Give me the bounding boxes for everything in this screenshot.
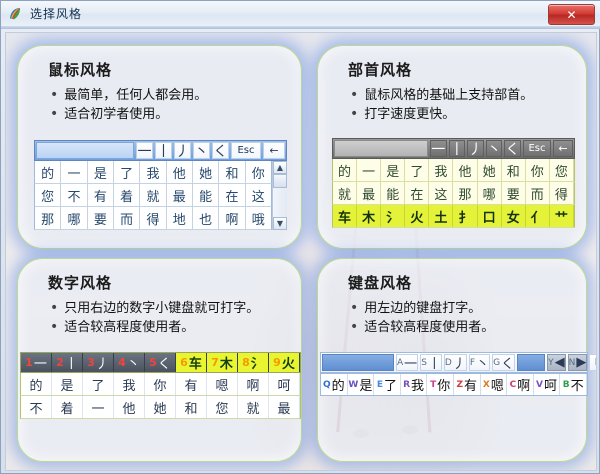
next-page-key[interactable]: N ▶ xyxy=(568,354,588,371)
candidate-cell[interactable]: 就 xyxy=(333,182,357,204)
ime-preview-keyboard: A 一 S 丨 D 丿 F 丶 xyxy=(320,352,588,396)
radical-cell[interactable]: 艹 xyxy=(550,205,574,227)
radical-row: 车 木 氵 火 土 扌 口 女 亻 艹 xyxy=(332,205,575,228)
candidate-row: Q 的 W 是 E 了 R 我 xyxy=(320,373,588,396)
candidate-cell[interactable]: 一 xyxy=(357,159,381,181)
candidate-cell[interactable]: 我 xyxy=(140,161,166,183)
numpad-digit: 8 xyxy=(242,356,250,369)
prev-arrow-icon: ◀ xyxy=(555,355,565,370)
candidate-glyph: 你 xyxy=(437,375,450,394)
candidate-cell[interactable]: 要 xyxy=(88,207,114,229)
esc-key[interactable]: Esc xyxy=(523,140,551,157)
key-glyph: く xyxy=(501,353,514,372)
candidate-glyph: 我 xyxy=(411,375,424,394)
next-arrow-icon: ▶ xyxy=(576,355,586,370)
numpad-digit: 5 xyxy=(149,356,157,369)
candidate-cell[interactable]: 啊 xyxy=(238,373,269,395)
numpad-key[interactable]: 4 丶 xyxy=(114,353,145,372)
panel-bullets: 鼠标风格的基础上支持部首。 打字速度更快。 xyxy=(350,86,533,124)
candidate-glyph: 不 xyxy=(571,375,584,394)
stroke-key[interactable]: 一 xyxy=(430,140,447,157)
candidate-cell[interactable]: 啊 xyxy=(219,207,245,229)
numpad-key-radical[interactable]: 9 火 xyxy=(269,353,300,372)
key-glyph: 丨 xyxy=(428,353,441,372)
candidate-cell[interactable]: 得 xyxy=(550,182,574,204)
numpad-key[interactable]: 5 く xyxy=(145,353,176,372)
candidate-cell[interactable]: 和 xyxy=(219,161,245,183)
candidate-row: 的 一 是 了 我 他 她 和 你 您 xyxy=(332,159,575,182)
candidate-glyph: 嗯 xyxy=(491,375,504,394)
numpad-glyph: 木 xyxy=(220,353,233,372)
close-icon: ✕ xyxy=(566,8,576,22)
candidate-row: 的 一 是 了 我 他 她 和 你 xyxy=(34,161,272,184)
candidate-cell[interactable]: 要 xyxy=(502,182,526,204)
candidate-cell[interactable]: 哪 xyxy=(478,182,502,204)
key-letter: R xyxy=(403,380,410,390)
window-title: 选择风格 xyxy=(30,5,82,22)
candidate-cell[interactable]: X 嗯 xyxy=(481,374,508,395)
numpad-toolbar: 1 一 2 丨 3 丿 4 丶 xyxy=(20,352,301,373)
close-button[interactable]: ✕ xyxy=(548,4,595,25)
key-letter: F xyxy=(470,358,475,368)
candidate-cell[interactable]: 一 xyxy=(61,161,87,183)
candidate-cell[interactable]: 了 xyxy=(405,159,429,181)
candidate-cell[interactable]: 我 xyxy=(114,373,145,395)
radical-cell[interactable]: 亻 xyxy=(526,205,550,227)
candidate-scrollbar[interactable]: ▲ ▼ xyxy=(272,161,287,230)
candidate-cell[interactable]: 有 xyxy=(176,373,207,395)
key-letter: Z xyxy=(456,380,463,390)
candidate-cell[interactable]: T 你 xyxy=(427,374,454,395)
candidate-glyph: 了 xyxy=(384,375,397,394)
ime-input-area[interactable] xyxy=(334,140,428,157)
key-letter: E xyxy=(377,380,383,390)
candidate-cell[interactable]: 能 xyxy=(193,184,219,206)
numpad-digit: 7 xyxy=(211,356,219,369)
stroke-key[interactable]: A 一 xyxy=(396,354,418,371)
candidate-cell[interactable]: C 啊 xyxy=(507,374,534,395)
candidate-cell[interactable]: Q 的 xyxy=(321,374,348,395)
style-option-mouse[interactable]: 鼠标风格 最简单，任何人都会用。 适合初学者使用。 一 丨 丿 丶 く Esc … xyxy=(17,45,302,249)
candidate-cell[interactable]: 不 xyxy=(61,184,87,206)
panel-bullets: 最简单，任何人都会用。 适合初学者使用。 xyxy=(50,86,207,124)
candidate-cell[interactable]: 了 xyxy=(114,161,140,183)
candidate-cell[interactable]: 他 xyxy=(167,161,193,183)
candidate-cell[interactable]: 最 xyxy=(269,396,300,418)
numpad-digit: 9 xyxy=(273,356,281,369)
candidate-cell[interactable]: 这 xyxy=(429,182,453,204)
radical-cell[interactable]: 氵 xyxy=(381,205,405,227)
candidate-cell[interactable]: 而 xyxy=(114,207,140,229)
panel-title: 键盘风格 xyxy=(348,272,412,293)
panel-title: 部首风格 xyxy=(348,59,412,80)
panel-title: 鼠标风格 xyxy=(48,59,112,80)
bullet-item: 鼠标风格的基础上支持部首。 xyxy=(350,86,533,105)
candidate-glyph: 的 xyxy=(332,375,345,394)
numpad-key-radical[interactable]: 7 木 xyxy=(207,353,238,372)
stroke-key[interactable]: 丨 xyxy=(155,142,172,159)
ime-input-area[interactable] xyxy=(36,142,134,159)
radical-cell[interactable]: 火 xyxy=(405,205,429,227)
ime-toolbar: 一 丨 丿 丶 く Esc ← xyxy=(34,140,287,161)
candidate-cell[interactable]: 是 xyxy=(381,159,405,181)
candidate-cell[interactable]: 他 xyxy=(453,159,477,181)
numpad-key[interactable]: 3 丿 xyxy=(83,353,114,372)
dialog-window: 选择风格 ✕ 鼠标风格 最简单，任何人都会用。 适合初学者使用。 一 丨 丿 丶 xyxy=(0,0,600,474)
candidate-cell[interactable]: 一 xyxy=(83,396,114,418)
key-letter: C xyxy=(510,380,517,390)
candidate-cell[interactable]: 在 xyxy=(219,184,245,206)
stroke-key[interactable]: 一 xyxy=(136,142,153,159)
key-letter: A xyxy=(397,358,403,368)
style-option-keyboard[interactable]: 键盘风格 用左边的键盘打字。 适合较高程度使用者。 A 一 S 丨 xyxy=(317,258,587,462)
panel-bullets: 只用右边的数字小键盘就可打字。 适合较高程度使用者。 xyxy=(50,299,259,337)
candidate-cell[interactable]: 着 xyxy=(52,396,83,418)
radical-cell[interactable]: 口 xyxy=(478,205,502,227)
candidate-cell[interactable]: 了 xyxy=(83,373,114,395)
numpad-glyph: 火 xyxy=(282,353,295,372)
stroke-key[interactable]: S 丨 xyxy=(420,354,442,371)
stroke-key[interactable]: 丶 xyxy=(486,140,503,157)
key-letter: Y xyxy=(548,358,554,368)
candidate-glyph: 呵 xyxy=(544,375,557,394)
key-glyph: 一 xyxy=(404,353,417,372)
key-letter: V xyxy=(536,380,543,390)
numpad-key[interactable]: 2 丨 xyxy=(52,353,83,372)
stroke-key[interactable]: 丶 xyxy=(193,142,210,159)
candidate-row: 您 不 有 着 就 最 能 在 这 xyxy=(34,184,272,207)
bullet-item: 适合较高程度使用者。 xyxy=(50,318,259,337)
scroll-up-icon[interactable]: ▲ xyxy=(273,161,287,174)
candidate-cell[interactable]: 你 xyxy=(145,373,176,395)
backspace-key[interactable]: ← xyxy=(263,142,285,159)
ime-preview-number: 1 一 2 丨 3 丿 4 丶 xyxy=(20,352,301,419)
candidate-cell[interactable]: 她 xyxy=(193,161,219,183)
bullet-item: 用左边的键盘打字。 xyxy=(350,299,494,318)
candidate-cell[interactable]: 那 xyxy=(35,207,61,229)
ime-preview-mouse: 一 丨 丿 丶 く Esc ← 的 一 是 了 我 xyxy=(34,140,287,230)
candidate-cell[interactable]: 是 xyxy=(52,373,83,395)
candidate-cell[interactable]: 得 xyxy=(140,207,166,229)
key-letter: Q xyxy=(323,380,331,390)
candidate-cell[interactable]: 您 xyxy=(35,184,61,206)
candidate-cell[interactable]: 你 xyxy=(246,161,271,183)
candidate-cell[interactable]: 而 xyxy=(526,182,550,204)
radical-cell[interactable]: 车 xyxy=(333,205,357,227)
radical-cell[interactable]: 木 xyxy=(357,205,381,227)
numpad-digit: 4 xyxy=(118,356,126,369)
candidate-cell[interactable]: 最 xyxy=(167,184,193,206)
numpad-key[interactable]: 1 一 xyxy=(21,353,52,372)
candidate-cell[interactable]: 我 xyxy=(429,159,453,181)
bullet-item: 打字速度更快。 xyxy=(350,105,533,124)
candidate-cell[interactable]: E 了 xyxy=(374,374,401,395)
key-letter: X xyxy=(483,380,490,390)
prev-page-key[interactable]: Y ◀ xyxy=(547,354,566,371)
key-letter: D xyxy=(445,358,452,368)
candidate-cell[interactable]: W 是 xyxy=(348,374,375,395)
style-option-number[interactable]: 数字风格 只用右边的数字小键盘就可打字。 适合较高程度使用者。 1 一 2 丨 xyxy=(17,258,302,462)
candidate-row: 的 是 了 我 你 有 嗯 啊 呵 xyxy=(20,373,301,396)
candidate-cell[interactable]: 的 xyxy=(21,373,52,395)
candidate-cell[interactable]: 他 xyxy=(114,396,145,418)
candidate-cell[interactable]: R 我 xyxy=(401,374,428,395)
style-option-radical[interactable]: 部首风格 鼠标风格的基础上支持部首。 打字速度更快。 一 丨 丿 丶 く Esc… xyxy=(317,45,587,249)
app-leaf-icon xyxy=(8,6,24,22)
bullet-item: 最简单，任何人都会用。 xyxy=(50,86,207,105)
candidate-cell[interactable]: 您 xyxy=(207,396,238,418)
key-letter: N xyxy=(569,358,576,368)
numpad-digit: 1 xyxy=(25,356,33,369)
candidate-cell[interactable]: Z 有 xyxy=(454,374,481,395)
candidate-glyph: 啊 xyxy=(517,375,530,394)
candidate-cell[interactable]: 这 xyxy=(246,184,271,206)
candidate-row: 那 哪 要 而 得 地 也 啊 哦 xyxy=(34,207,272,230)
candidate-cell[interactable]: V 呵 xyxy=(534,374,561,395)
backspace-key[interactable]: ← xyxy=(553,140,573,157)
stroke-key[interactable]: G く xyxy=(492,354,515,371)
panel-bullets: 用左边的键盘打字。 适合较高程度使用者。 xyxy=(350,299,494,337)
numpad-glyph: 丿 xyxy=(96,353,109,372)
candidate-cell[interactable]: 也 xyxy=(193,207,219,229)
radical-cell[interactable]: 女 xyxy=(502,205,526,227)
candidate-cell[interactable]: 那 xyxy=(453,182,477,204)
candidate-cell[interactable]: 和 xyxy=(176,396,207,418)
numpad-glyph: く xyxy=(158,353,171,372)
candidate-row: 就 最 能 在 这 那 哪 要 而 得 xyxy=(332,182,575,205)
stroke-key[interactable]: 丿 xyxy=(467,140,484,157)
candidate-cell[interactable]: 你 xyxy=(526,159,550,181)
numpad-key-radical[interactable]: 6 车 xyxy=(176,353,207,372)
esc-key[interactable]: Esc xyxy=(231,142,261,159)
key-letter: T xyxy=(430,380,436,390)
candidate-cell[interactable]: 的 xyxy=(35,161,61,183)
stroke-key[interactable]: く xyxy=(504,140,521,157)
candidate-cell[interactable]: 就 xyxy=(140,184,166,206)
candidate-cell[interactable]: 最 xyxy=(357,182,381,204)
numpad-glyph: 一 xyxy=(34,353,47,372)
candidate-cell[interactable]: 不 xyxy=(21,396,52,418)
candidate-cell[interactable]: 的 xyxy=(333,159,357,181)
candidate-cell[interactable]: 她 xyxy=(145,396,176,418)
candidate-cell[interactable]: 着 xyxy=(114,184,140,206)
ime-toolbar: 一 丨 丿 丶 く Esc ← xyxy=(332,138,575,159)
key-glyph: 丶 xyxy=(476,353,489,372)
stroke-key[interactable]: く xyxy=(212,142,229,159)
candidate-cell[interactable]: 是 xyxy=(88,161,114,183)
ime-input-area[interactable] xyxy=(322,354,394,371)
candidate-glyph: 是 xyxy=(359,375,372,394)
title-bar: 选择风格 ✕ xyxy=(1,1,600,27)
scrollbar-thumb[interactable] xyxy=(273,174,287,188)
bullet-item: 适合较高程度使用者。 xyxy=(350,318,494,337)
key-letter: S xyxy=(421,358,427,368)
candidate-cell[interactable]: 哪 xyxy=(61,207,87,229)
candidate-cell[interactable]: 嗯 xyxy=(207,373,238,395)
candidate-row: 不 着 一 他 她 和 您 就 最 xyxy=(20,396,301,419)
content-area: 鼠标风格 最简单，任何人都会用。 适合初学者使用。 一 丨 丿 丶 く Esc … xyxy=(5,32,597,471)
candidate-cell[interactable]: 哦 xyxy=(246,207,271,229)
panel-title: 数字风格 xyxy=(48,272,112,293)
bullet-item: 适合初学者使用。 xyxy=(50,105,207,124)
key-letter: G xyxy=(493,358,500,368)
radical-cell[interactable]: 扌 xyxy=(453,205,477,227)
radical-cell[interactable]: 土 xyxy=(429,205,453,227)
candidate-cell[interactable]: 呵 xyxy=(269,373,300,395)
numpad-digit: 3 xyxy=(87,356,95,369)
candidate-cell[interactable]: 她 xyxy=(478,159,502,181)
scroll-down-icon[interactable]: ▼ xyxy=(273,217,287,230)
stroke-key[interactable]: 丿 xyxy=(174,142,191,159)
stroke-key[interactable]: D 丿 xyxy=(444,354,467,371)
key-letter: W xyxy=(348,380,358,390)
numpad-key-radical[interactable]: 8 氵 xyxy=(238,353,269,372)
candidate-cell[interactable]: 地 xyxy=(167,207,193,229)
candidate-cell[interactable]: 您 xyxy=(550,159,574,181)
key-glyph: 丿 xyxy=(453,353,466,372)
ime-preview-radical: 一 丨 丿 丶 く Esc ← 的 一 是 了 我 他 她 和 xyxy=(332,138,575,228)
numpad-glyph: 车 xyxy=(189,353,202,372)
candidate-cell[interactable]: 和 xyxy=(502,159,526,181)
numpad-glyph: 氵 xyxy=(251,353,264,372)
candidate-cell[interactable]: B 不 xyxy=(560,374,587,395)
toolbar-spacer xyxy=(517,354,545,371)
bullet-item: 只用右边的数字小键盘就可打字。 xyxy=(50,299,259,318)
stroke-key[interactable]: F 丶 xyxy=(469,354,490,371)
esc-key[interactable]: Esc xyxy=(589,354,597,371)
numpad-digit: 6 xyxy=(180,356,188,369)
candidate-cell[interactable]: 在 xyxy=(405,182,429,204)
key-letter: B xyxy=(563,380,570,390)
candidate-cell[interactable]: 有 xyxy=(88,184,114,206)
numpad-digit: 2 xyxy=(56,356,64,369)
numpad-glyph: 丶 xyxy=(127,353,140,372)
candidate-cell[interactable]: 能 xyxy=(381,182,405,204)
ime-toolbar: A 一 S 丨 D 丿 F 丶 xyxy=(320,352,588,373)
candidate-glyph: 有 xyxy=(464,375,477,394)
candidate-cell[interactable]: 就 xyxy=(238,396,269,418)
stroke-key[interactable]: 丨 xyxy=(449,140,466,157)
numpad-glyph: 丨 xyxy=(65,353,78,372)
